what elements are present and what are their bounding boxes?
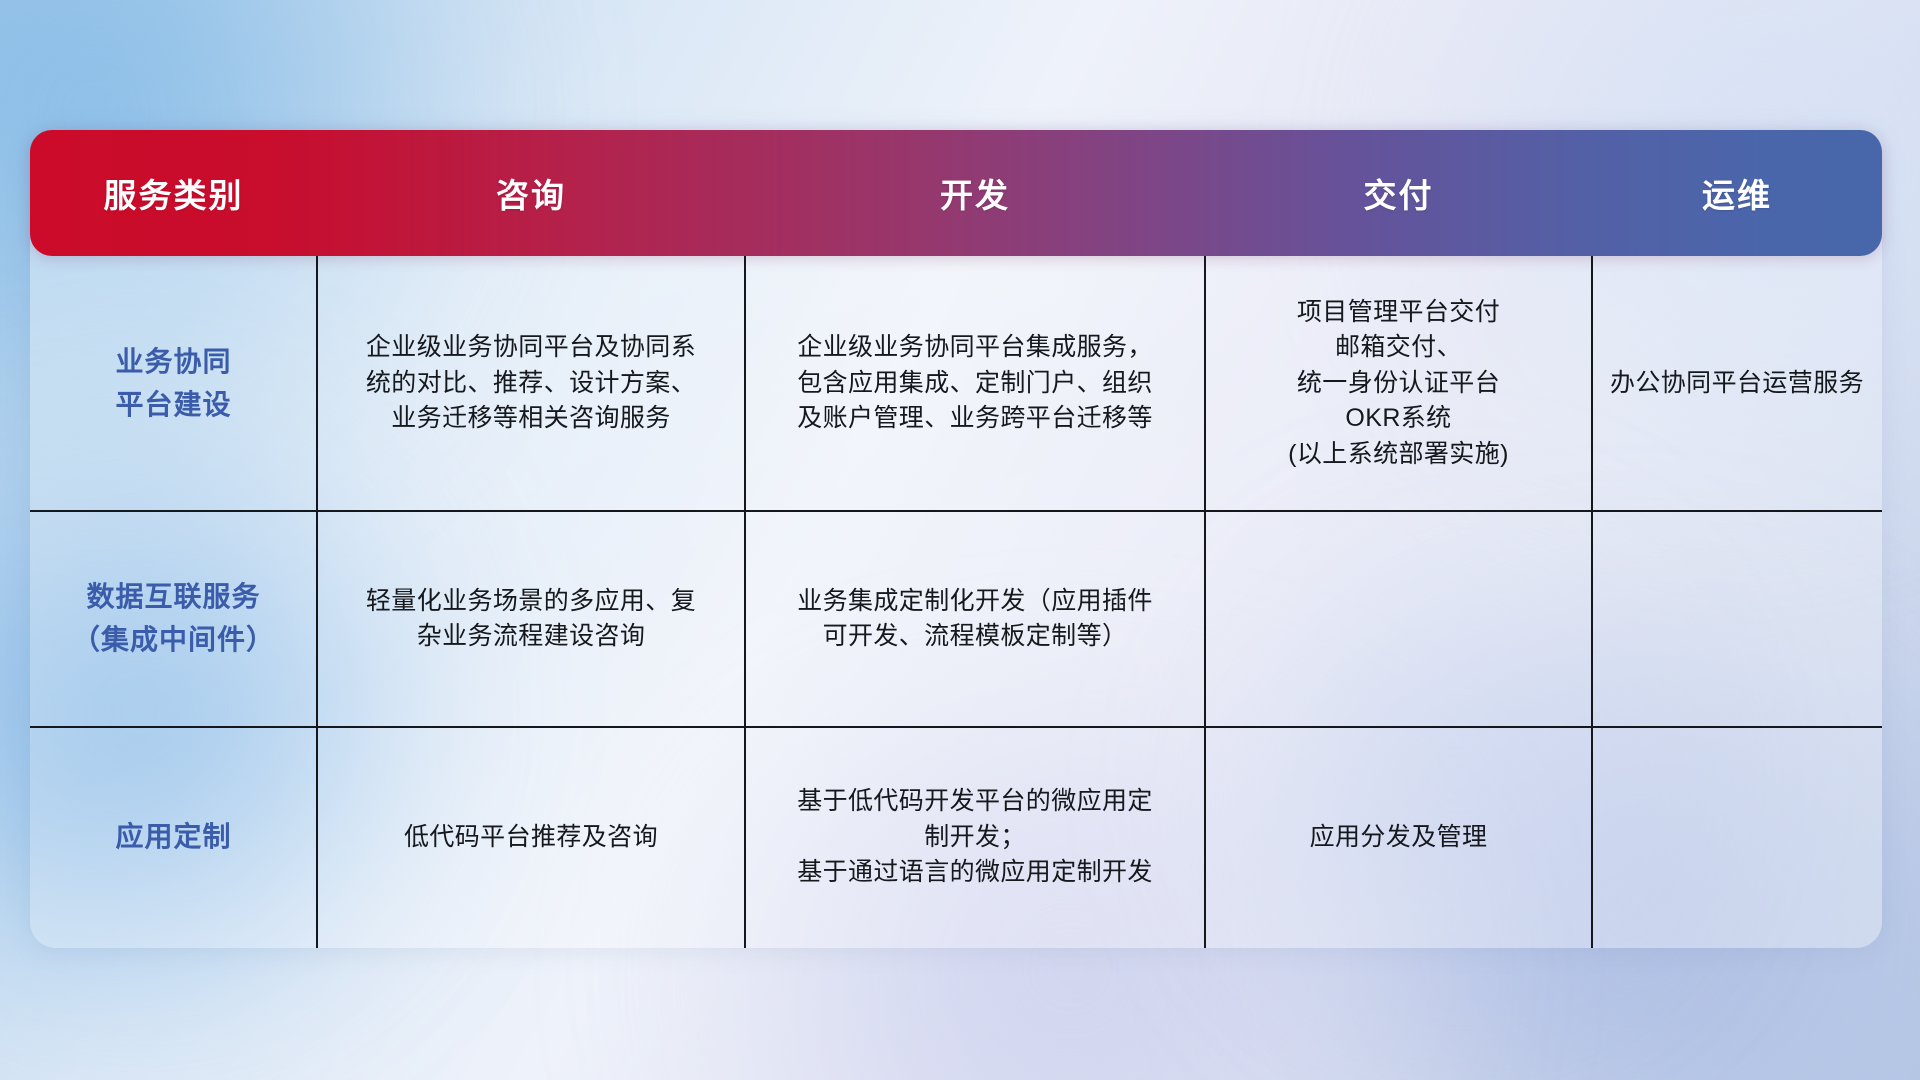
column-divider-2 — [744, 256, 746, 948]
column-header-development: 开发 — [745, 169, 1205, 217]
cell-text: 轻量化业务场景的多应用、复 杂业务流程建设咨询 — [366, 584, 696, 655]
table-header-row: 服务类别咨询开发交付运维 — [30, 130, 1882, 256]
table-cell-operations — [1592, 727, 1882, 948]
cell-text: 数据互联服务 （集成中间件） — [72, 576, 275, 661]
cell-text: 低代码平台推荐及咨询 — [404, 820, 658, 856]
column-header-consulting: 咨询 — [317, 169, 745, 217]
cell-text: 业务集成定制化开发（应用插件 可开发、流程模板定制等） — [797, 584, 1153, 655]
table-cell-consulting: 低代码平台推荐及咨询 — [317, 727, 745, 948]
table-body: 业务协同 平台建设企业级业务协同平台及协同系 统的对比、推荐、设计方案、 业务迁… — [30, 256, 1882, 948]
column-header-category: 服务类别 — [30, 169, 317, 217]
service-matrix-table: 服务类别咨询开发交付运维 业务协同 平台建设企业级业务协同平台及协同系 统的对比… — [30, 130, 1882, 948]
table-cell-development: 基于低代码开发平台的微应用定 制开发； 基于通过语言的微应用定制开发 — [745, 727, 1205, 948]
cell-text: 企业级业务协同平台集成服务， 包含应用集成、定制门户、组织 及账户管理、业务跨平… — [797, 330, 1153, 437]
table-cell-operations: 办公协同平台运营服务 — [1592, 256, 1882, 511]
column-header-delivery: 交付 — [1205, 169, 1592, 217]
cell-text: 项目管理平台交付 邮箱交付、 统一身份认证平台 OKR系统 (以上系统部署实施) — [1288, 295, 1509, 473]
table-cell-development: 企业级业务协同平台集成服务， 包含应用集成、定制门户、组织 及账户管理、业务跨平… — [745, 256, 1205, 511]
cell-text: 业务协同 平台建设 — [115, 341, 231, 426]
table-cell-consulting: 企业级业务协同平台及协同系 统的对比、推荐、设计方案、 业务迁移等相关咨询服务 — [317, 256, 745, 511]
table-cell-operations — [1592, 511, 1882, 727]
cell-text: 企业级业务协同平台及协同系 统的对比、推荐、设计方案、 业务迁移等相关咨询服务 — [366, 330, 696, 437]
cell-text: 应用定制 — [115, 816, 231, 859]
table-cell-delivery: 应用分发及管理 — [1205, 727, 1592, 948]
row-divider-2 — [30, 726, 1882, 728]
cell-text: 应用分发及管理 — [1310, 820, 1488, 856]
row-label-cell: 应用定制 — [30, 727, 317, 948]
column-divider-3 — [1204, 256, 1206, 948]
column-divider-4 — [1591, 256, 1593, 948]
row-label-cell: 数据互联服务 （集成中间件） — [30, 511, 317, 727]
column-divider-1 — [316, 256, 318, 948]
table-cell-delivery: 项目管理平台交付 邮箱交付、 统一身份认证平台 OKR系统 (以上系统部署实施) — [1205, 256, 1592, 511]
cell-text: 办公协同平台运营服务 — [1610, 366, 1864, 402]
cell-text: 基于低代码开发平台的微应用定 制开发； 基于通过语言的微应用定制开发 — [797, 784, 1153, 891]
table-cell-development: 业务集成定制化开发（应用插件 可开发、流程模板定制等） — [745, 511, 1205, 727]
table-cell-delivery — [1205, 511, 1592, 727]
row-divider-1 — [30, 510, 1882, 512]
table-cell-consulting: 轻量化业务场景的多应用、复 杂业务流程建设咨询 — [317, 511, 745, 727]
column-header-operations: 运维 — [1592, 169, 1882, 217]
row-label-cell: 业务协同 平台建设 — [30, 256, 317, 511]
